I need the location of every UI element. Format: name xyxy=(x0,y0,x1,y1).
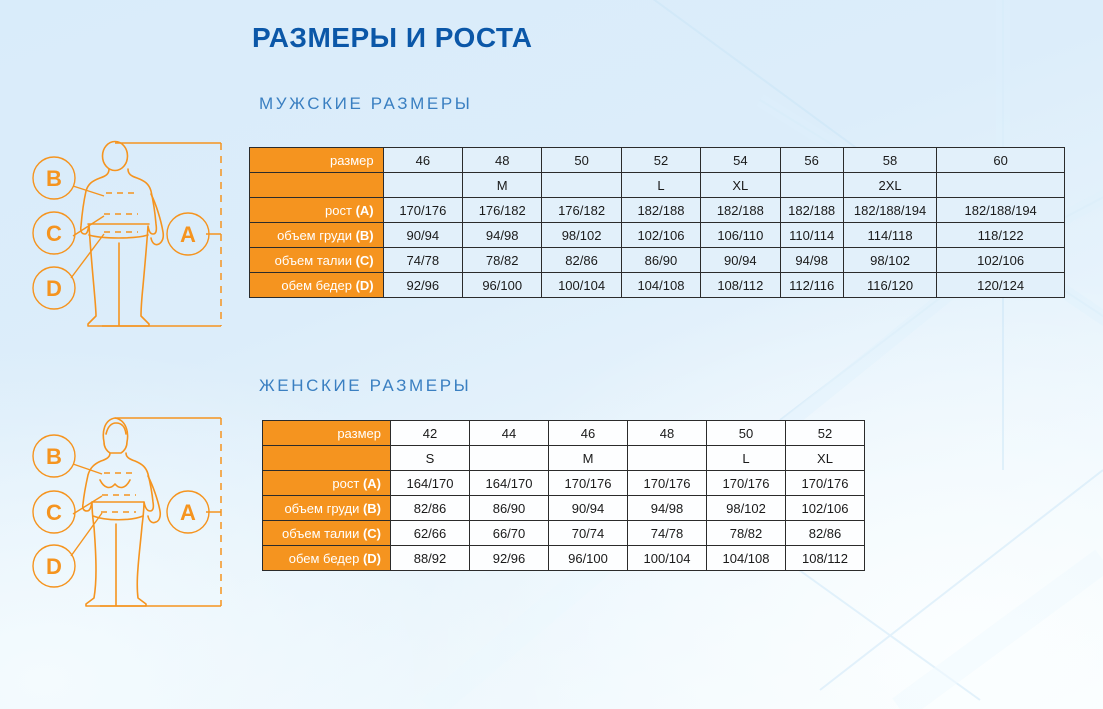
cell: 170/176 xyxy=(628,471,707,496)
cell: 82/86 xyxy=(542,248,621,273)
cell: 170/176 xyxy=(383,198,462,223)
label-d-men: D xyxy=(46,276,62,301)
cell: 74/78 xyxy=(383,248,462,273)
table-row: рост (A) 170/176 176/182 176/182 182/188… xyxy=(250,198,1065,223)
table-row: размер 46 48 50 52 54 56 58 60 xyxy=(250,148,1065,173)
label-b-women: B xyxy=(46,444,62,469)
label-a-men: A xyxy=(180,222,196,247)
table-row: рост (A) 164/170 164/170 170/176 170/176… xyxy=(263,471,865,496)
table-row: S M L XL xyxy=(263,446,865,471)
cell: 90/94 xyxy=(549,496,628,521)
cell: 100/104 xyxy=(628,546,707,571)
cell: L xyxy=(621,173,700,198)
cell: 104/108 xyxy=(621,273,700,298)
cell: 44 xyxy=(470,421,549,446)
cell: 102/106 xyxy=(786,496,865,521)
cell: 90/94 xyxy=(701,248,780,273)
cell: 74/78 xyxy=(628,521,707,546)
cell xyxy=(628,446,707,471)
men-section-title: МУЖСКИЕ РАЗМЕРЫ xyxy=(259,94,472,114)
cell: 86/90 xyxy=(470,496,549,521)
cell: 114/118 xyxy=(843,223,936,248)
cell: 170/176 xyxy=(549,471,628,496)
cell: 108/112 xyxy=(701,273,780,298)
cell: 120/124 xyxy=(937,273,1065,298)
cell: 182/188 xyxy=(780,198,843,223)
cell: 56 xyxy=(780,148,843,173)
cell: 48 xyxy=(463,148,542,173)
cell: 92/96 xyxy=(470,546,549,571)
cell: 164/170 xyxy=(391,471,470,496)
cell xyxy=(470,446,549,471)
cell: 78/82 xyxy=(707,521,786,546)
cell: 96/100 xyxy=(549,546,628,571)
cell: 118/122 xyxy=(937,223,1065,248)
cell: 66/70 xyxy=(470,521,549,546)
cell: 50 xyxy=(707,421,786,446)
row-label: рост (A) xyxy=(263,471,391,496)
row-label: объем груди (B) xyxy=(263,496,391,521)
cell: 82/86 xyxy=(391,496,470,521)
label-a-women: A xyxy=(180,500,196,525)
label-c-women: C xyxy=(46,500,62,525)
page-title: РАЗМЕРЫ И РОСТА xyxy=(252,22,532,54)
cell: 182/188/194 xyxy=(843,198,936,223)
table-row: объем талии (C) 74/78 78/82 82/86 86/90 … xyxy=(250,248,1065,273)
cell: 46 xyxy=(549,421,628,446)
cell: 90/94 xyxy=(383,223,462,248)
cell: 112/116 xyxy=(780,273,843,298)
row-label: объем талии (C) xyxy=(263,521,391,546)
cell: 98/102 xyxy=(707,496,786,521)
row-label: обем бедер (D) xyxy=(250,273,384,298)
cell: 116/120 xyxy=(843,273,936,298)
cell: 88/92 xyxy=(391,546,470,571)
cell: XL xyxy=(786,446,865,471)
cell: XL xyxy=(701,173,780,198)
cell: 54 xyxy=(701,148,780,173)
cell: 102/106 xyxy=(621,223,700,248)
row-label xyxy=(250,173,384,198)
cell: 106/110 xyxy=(701,223,780,248)
cell: L xyxy=(707,446,786,471)
cell: 176/182 xyxy=(463,198,542,223)
cell: 110/114 xyxy=(780,223,843,248)
table-row: объем груди (B) 90/94 94/98 98/102 102/1… xyxy=(250,223,1065,248)
cell: 86/90 xyxy=(621,248,700,273)
row-label: объем груди (B) xyxy=(250,223,384,248)
table-row: объем талии (C) 62/66 66/70 70/74 74/78 … xyxy=(263,521,865,546)
table-row: объем груди (B) 82/86 86/90 90/94 94/98 … xyxy=(263,496,865,521)
cell: 170/176 xyxy=(707,471,786,496)
cell: 102/106 xyxy=(937,248,1065,273)
male-body-diagram: B C D A xyxy=(16,138,248,333)
cell: 62/66 xyxy=(391,521,470,546)
table-row: обем бедер (D) 88/92 92/96 96/100 100/10… xyxy=(263,546,865,571)
cell xyxy=(780,173,843,198)
cell xyxy=(383,173,462,198)
cell: 2XL xyxy=(843,173,936,198)
women-section-title: ЖЕНСКИЕ РАЗМЕРЫ xyxy=(259,376,471,396)
cell: 182/188/194 xyxy=(937,198,1065,223)
cell: 94/98 xyxy=(463,223,542,248)
cell: 58 xyxy=(843,148,936,173)
label-b-men: B xyxy=(46,166,62,191)
cell: 60 xyxy=(937,148,1065,173)
cell: 96/100 xyxy=(463,273,542,298)
women-size-table: размер 42 44 46 48 50 52 S M L xyxy=(262,420,865,571)
row-label xyxy=(263,446,391,471)
cell: 182/188 xyxy=(621,198,700,223)
cell: 170/176 xyxy=(786,471,865,496)
row-label: обем бедер (D) xyxy=(263,546,391,571)
cell: 82/86 xyxy=(786,521,865,546)
cell: 94/98 xyxy=(780,248,843,273)
female-body-diagram: B C D A xyxy=(16,412,248,610)
table-row: размер 42 44 46 48 50 52 xyxy=(263,421,865,446)
size-chart-page: РАЗМЕРЫ И РОСТА МУЖСКИЕ РАЗМЕРЫ xyxy=(0,0,1103,709)
cell: 94/98 xyxy=(628,496,707,521)
row-label: объем талии (C) xyxy=(250,248,384,273)
table-row: обем бедер (D) 92/96 96/100 100/104 104/… xyxy=(250,273,1065,298)
cell: 100/104 xyxy=(542,273,621,298)
cell: 108/112 xyxy=(786,546,865,571)
cell: M xyxy=(549,446,628,471)
label-d-women: D xyxy=(46,554,62,579)
row-label: размер xyxy=(250,148,384,173)
cell: 52 xyxy=(786,421,865,446)
cell: 182/188 xyxy=(701,198,780,223)
cell: 52 xyxy=(621,148,700,173)
cell xyxy=(542,173,621,198)
cell: 46 xyxy=(383,148,462,173)
cell: 98/102 xyxy=(542,223,621,248)
table-row: M L XL 2XL xyxy=(250,173,1065,198)
cell: 104/108 xyxy=(707,546,786,571)
cell: 92/96 xyxy=(383,273,462,298)
cell xyxy=(937,173,1065,198)
men-size-table: размер 46 48 50 52 54 56 58 60 M xyxy=(249,147,1065,298)
cell: M xyxy=(463,173,542,198)
cell: S xyxy=(391,446,470,471)
cell: 98/102 xyxy=(843,248,936,273)
cell: 164/170 xyxy=(470,471,549,496)
cell: 50 xyxy=(542,148,621,173)
row-label: рост (A) xyxy=(250,198,384,223)
cell: 78/82 xyxy=(463,248,542,273)
cell: 48 xyxy=(628,421,707,446)
cell: 70/74 xyxy=(549,521,628,546)
row-label: размер xyxy=(263,421,391,446)
label-c-men: C xyxy=(46,221,62,246)
cell: 42 xyxy=(391,421,470,446)
cell: 176/182 xyxy=(542,198,621,223)
